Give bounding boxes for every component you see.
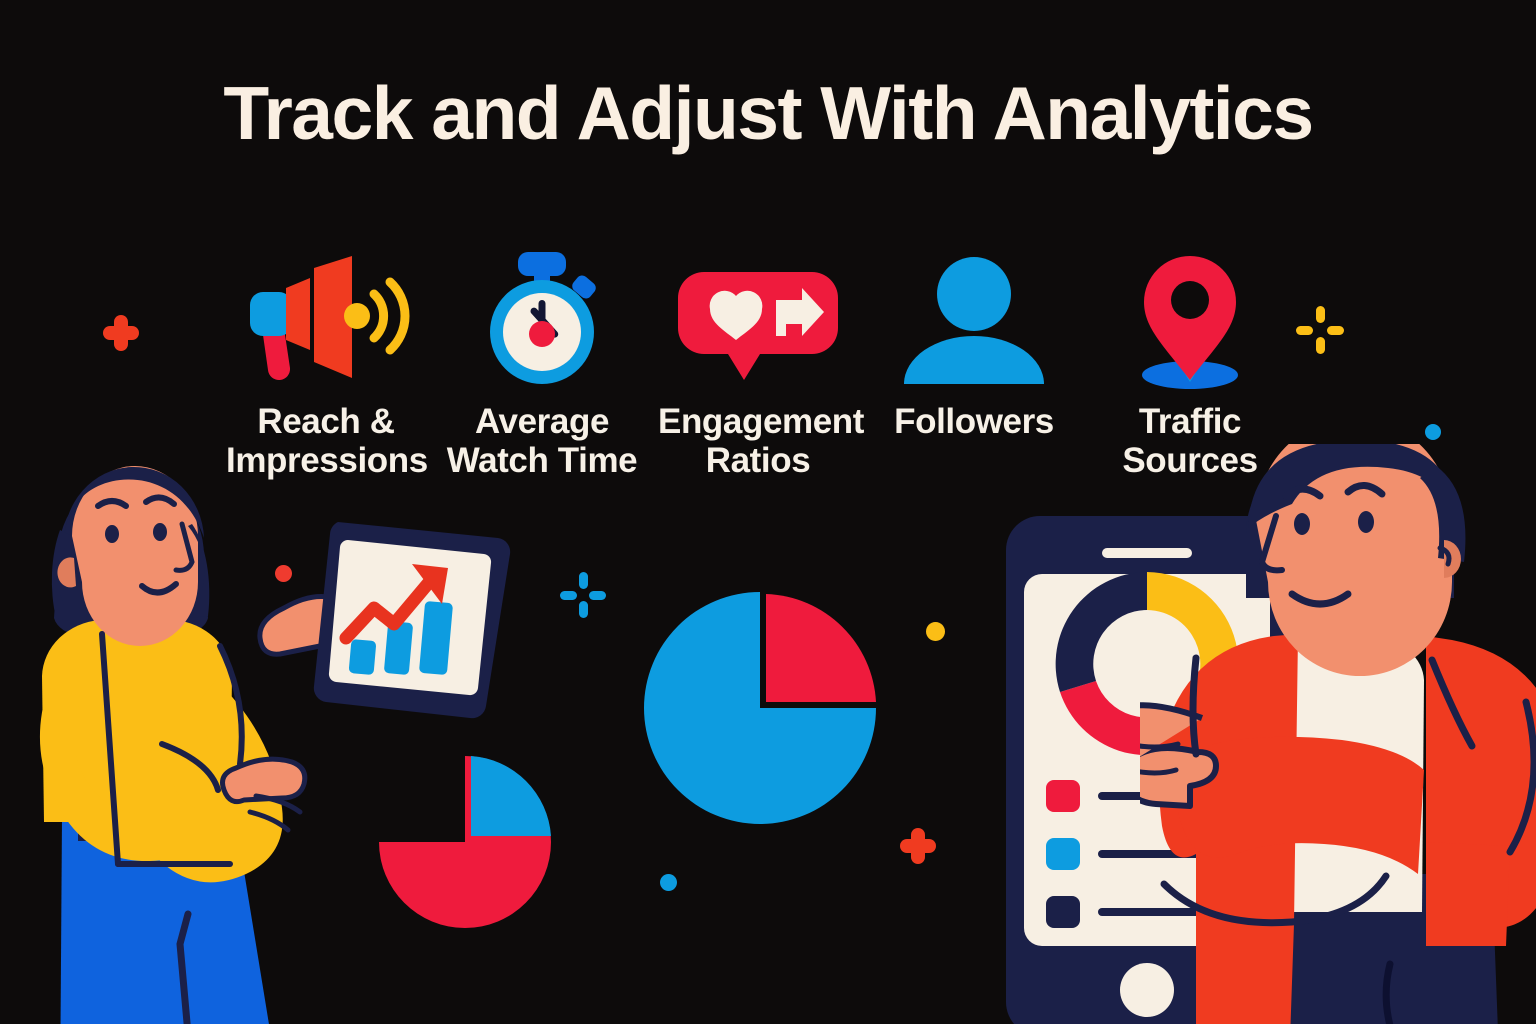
small-pie-chart	[375, 752, 555, 932]
spark-blue-center	[560, 572, 606, 618]
metric-engagement-ratios[interactable]: EngagementRatios	[658, 250, 858, 490]
man-with-phone	[1140, 444, 1536, 1024]
large-pie-chart	[640, 588, 880, 828]
infographic-canvas: Track and Adjust With Analytics	[0, 0, 1536, 1024]
legend-swatch-blue	[1046, 838, 1080, 870]
map-pin-icon	[1090, 250, 1290, 390]
metric-label-engagement-ratios: EngagementRatios	[658, 402, 858, 480]
dot-blue-right	[1425, 424, 1441, 440]
page-title: Track and Adjust With Analytics	[0, 76, 1536, 151]
tablet-device[interactable]	[312, 520, 512, 730]
dot-blue-center	[660, 874, 677, 891]
stopwatch-icon	[442, 250, 642, 390]
plus-sparkle-red-left	[103, 315, 139, 351]
person-icon	[874, 250, 1074, 390]
dot-yellow-center	[926, 622, 945, 641]
megaphone-icon	[226, 250, 426, 390]
legend-swatch-navy	[1046, 896, 1080, 928]
legend-swatch-red	[1046, 780, 1080, 812]
metric-label-followers: Followers	[874, 402, 1074, 441]
plus-sparkle-red-lower	[900, 828, 936, 864]
metric-followers[interactable]: Followers	[874, 250, 1074, 490]
engagement-bubble-icon	[658, 250, 858, 390]
